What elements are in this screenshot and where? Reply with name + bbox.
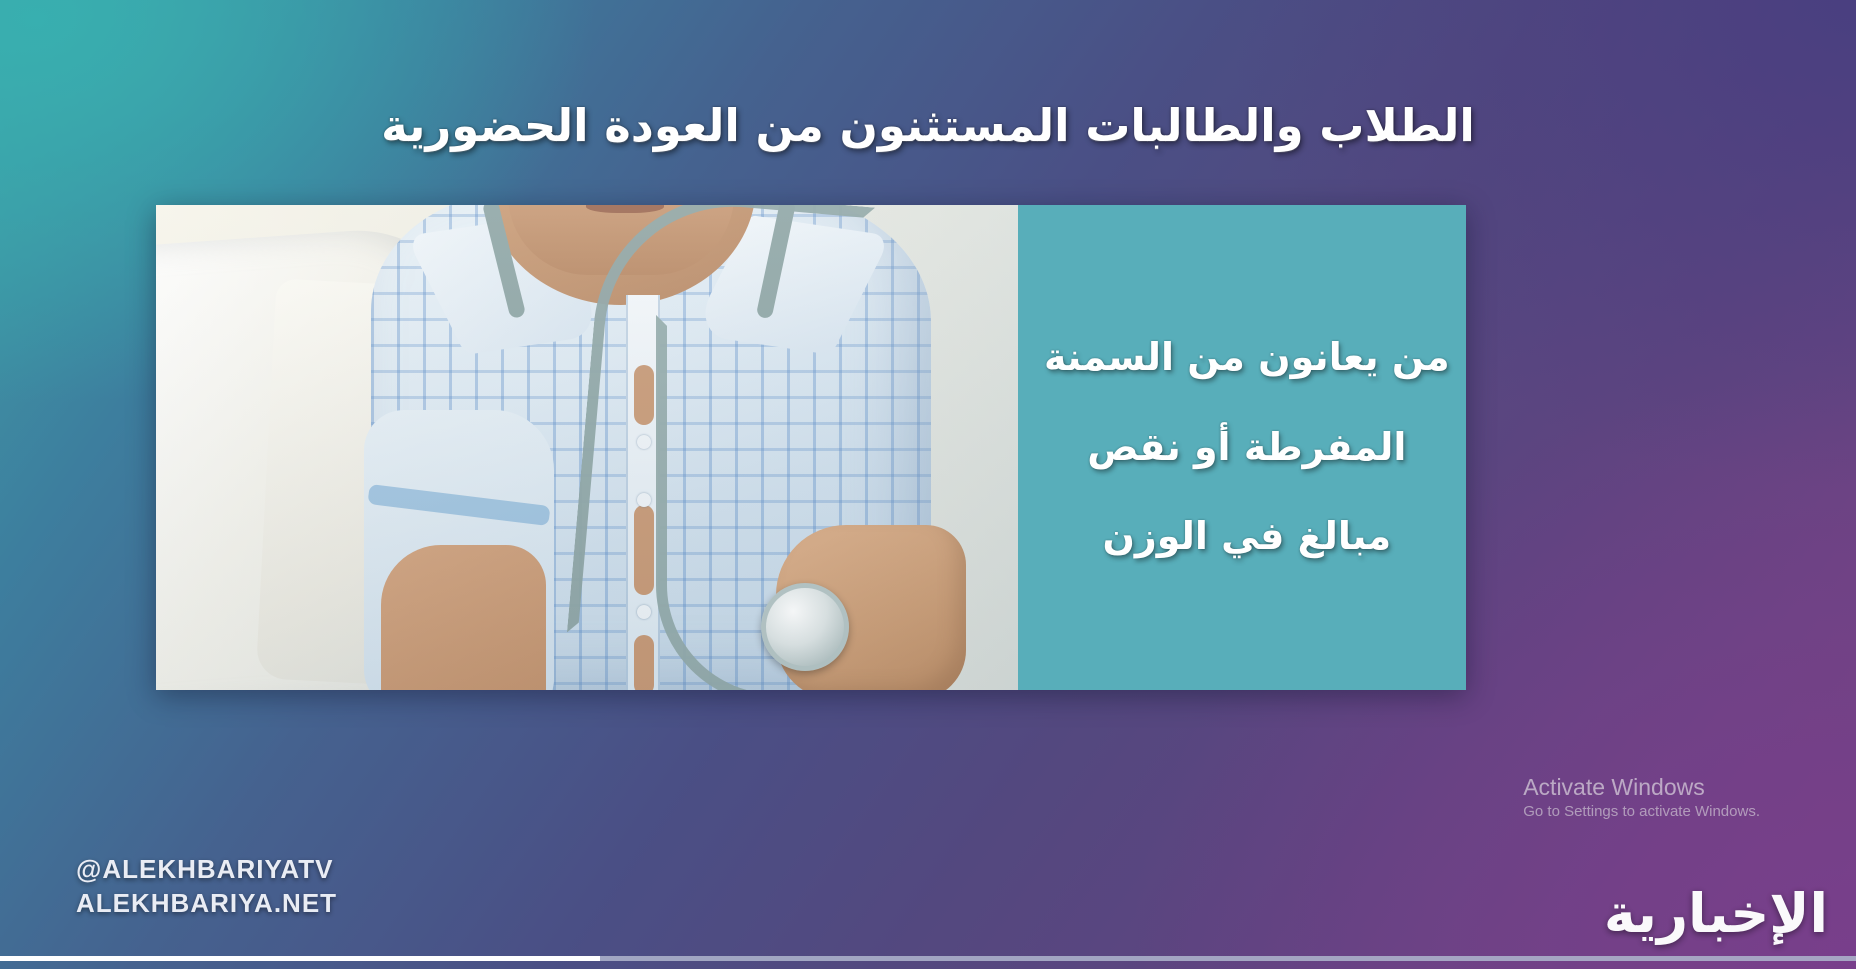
channel-logo: الإخبارية [1604,882,1828,945]
child-arm-left [381,545,546,690]
website-url: ALEKHBARIYA.NET [76,887,337,921]
broadcaster-handles: @ALEKHBARIYATV ALEKHBARIYA.NET [76,853,337,921]
video-frame: الطلاب والطالبات المستثنون من العودة الح… [0,0,1856,969]
content-card: من يعانون من السمنة المفرطة أو نقص مبالغ… [156,205,1466,690]
video-progress-buffer [600,956,1856,961]
windows-activation-watermark: Activate Windows Go to Settings to activ… [1523,773,1760,821]
caption-line-1: من يعانون من السمنة [1044,336,1450,380]
caption-line-3: مبالغ في الوزن [1102,515,1391,559]
social-handle: @ALEKHBARIYATV [76,853,337,887]
photo-panel [156,205,1018,690]
caption-panel: من يعانون من السمنة المفرطة أو نقص مبالغ… [1018,205,1466,690]
page-title: الطلاب والطالبات المستثنون من العودة الح… [0,98,1856,154]
watermark-title: Activate Windows [1523,773,1760,802]
caption-line-2: المفرطة أو نقص [1087,426,1406,470]
video-progress-filled [0,956,600,961]
stethoscope-chestpiece-icon [761,583,849,671]
video-progress-bar[interactable] [0,956,1856,961]
shirt-gap-lower [634,635,654,690]
watermark-subtitle: Go to Settings to activate Windows. [1523,802,1760,822]
